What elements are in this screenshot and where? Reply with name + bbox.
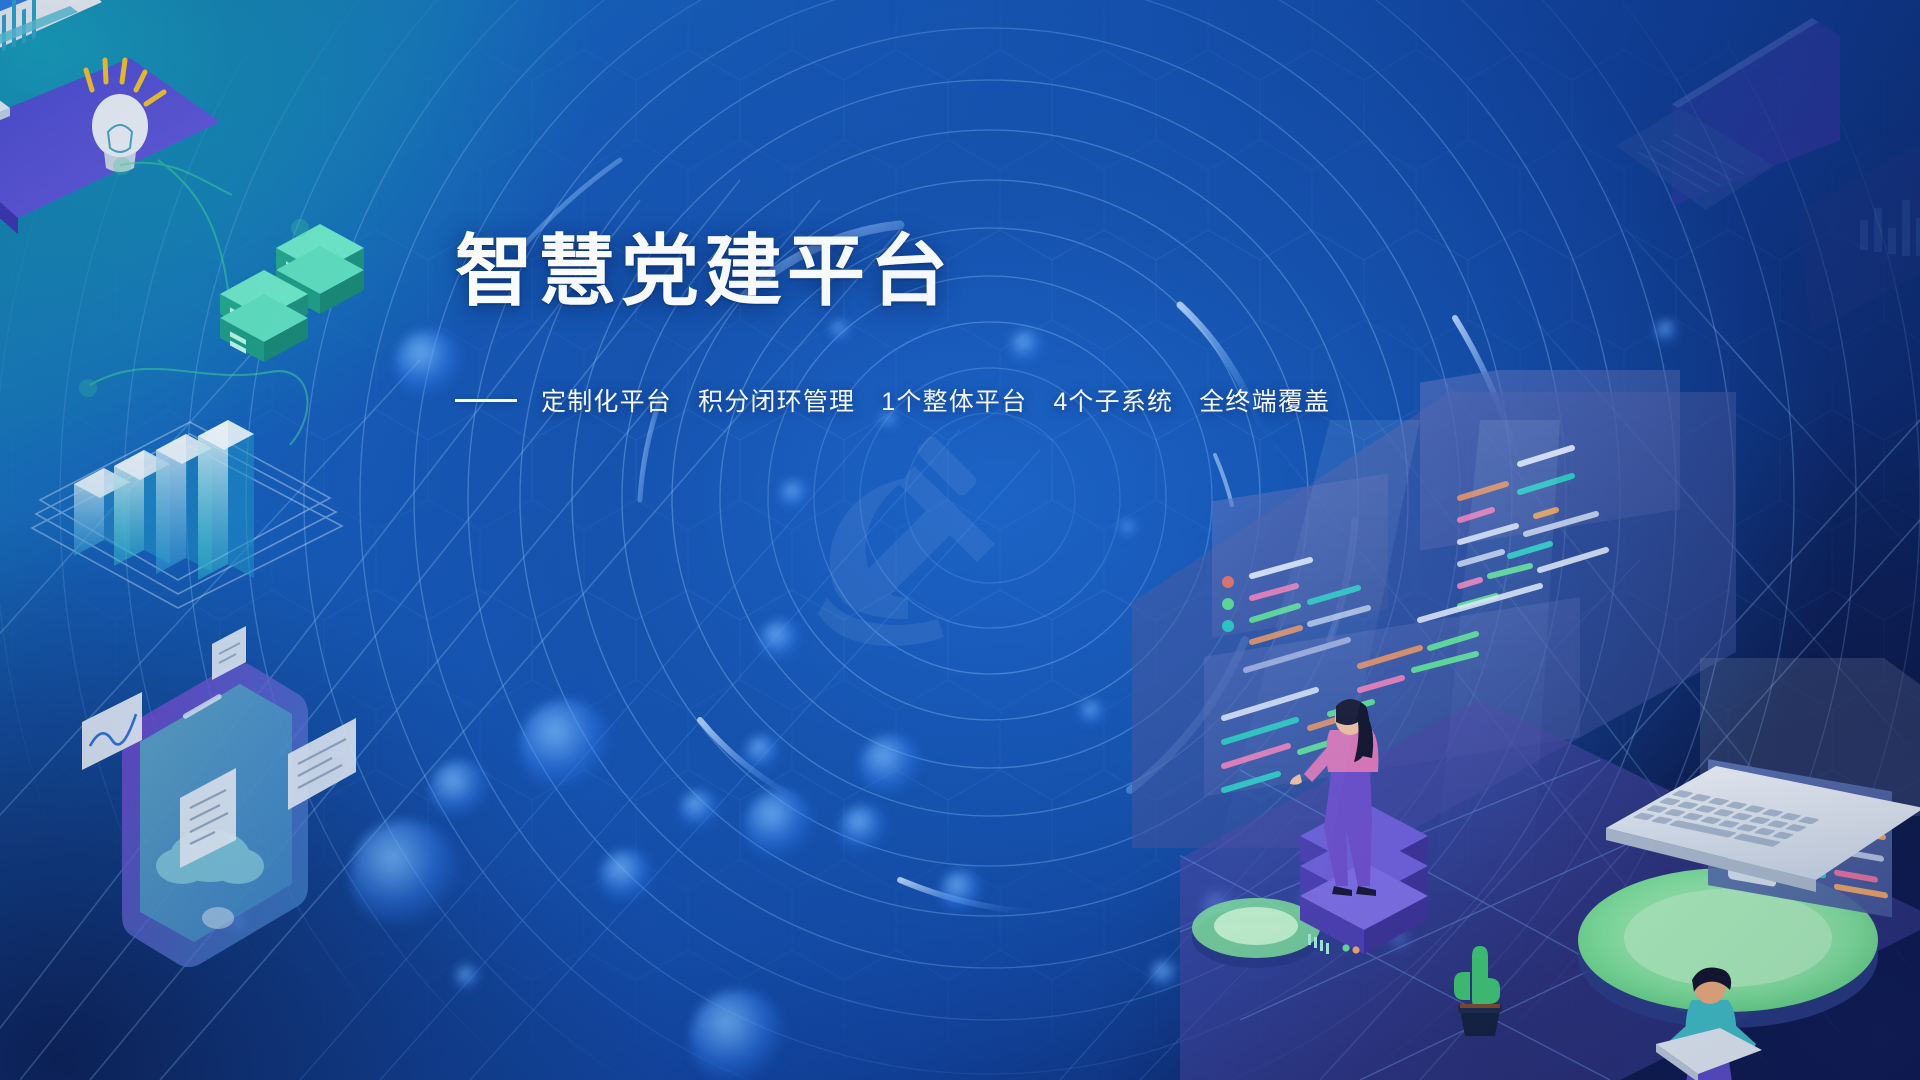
hero-subtitle-row: 定制化平台积分闭环管理1个整体平台4个子系统全终端覆盖 bbox=[455, 382, 1455, 418]
laptop-dark bbox=[1616, 18, 1840, 210]
light-beams bbox=[1180, 420, 1880, 980]
subtitle-dash-rule bbox=[455, 399, 517, 402]
subtitle-segment-custom-platform: 定制化平台 bbox=[541, 388, 672, 416]
subtitle-segment-points-loop: 积分闭环管理 bbox=[698, 388, 855, 416]
server-stack-green bbox=[220, 224, 364, 362]
hero-subtitle: 定制化平台积分闭环管理1个整体平台4个子系统全终端覆盖 bbox=[541, 382, 1330, 418]
illustration-top-right-laptop bbox=[1560, 0, 1920, 340]
bar-block bbox=[198, 420, 254, 580]
page-title: 智慧党建平台 bbox=[455, 232, 1455, 310]
illustration-bottom-left-mobile bbox=[60, 600, 420, 1080]
hero-banner: 智慧党建平台 定制化平台积分闭环管理1个整体平台4个子系统全终端覆盖 bbox=[0, 0, 1920, 1080]
chart-panel-dark bbox=[1796, 132, 1920, 332]
subtitle-segment-all-terminal: 全终端覆盖 bbox=[1199, 388, 1330, 416]
hero-copy-block: 智慧党建平台 定制化平台积分闭环管理1个整体平台4个子系统全终端覆盖 bbox=[455, 232, 1455, 418]
subtitle-segment-four-subsystems: 4个子系统 bbox=[1053, 388, 1173, 416]
subtitle-segment-one-platform: 1个整体平台 bbox=[881, 388, 1027, 416]
